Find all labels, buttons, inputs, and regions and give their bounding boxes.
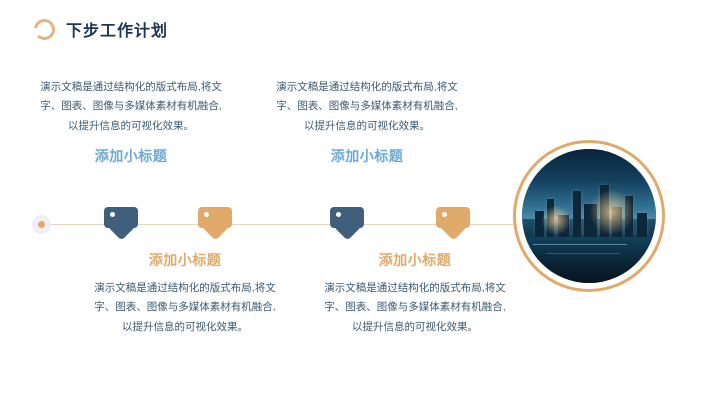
page-title: 下步工作计划 [34, 17, 168, 41]
timeline-pin-4[interactable] [436, 207, 476, 241]
building [573, 191, 581, 237]
city-skyline-night-photo [522, 149, 656, 283]
timeline-start-dot [32, 215, 51, 234]
page-title-text: 下步工作计划 [66, 17, 168, 41]
light-streak [546, 253, 620, 254]
light-streak [533, 244, 627, 245]
block-body-text: 演示文稿是通过结构化的版式布局,将文字、图表、图像与多媒体素材有机融合,以提升信… [272, 78, 462, 136]
timeline-pin-2[interactable] [198, 207, 238, 241]
dot-inner [38, 221, 45, 228]
timeline-pin-3[interactable] [330, 207, 370, 241]
block-subtitle: 添加小标题 [90, 250, 280, 270]
block-body-text: 演示文稿是通过结构化的版式布局,将文字、图表、图像与多媒体素材有机融合,以提升信… [36, 78, 226, 136]
content-block-top-right: 演示文稿是通过结构化的版式布局,将文字、图表、图像与多媒体素材有机融合,以提升信… [272, 78, 462, 166]
block-body-text: 演示文稿是通过结构化的版式布局,将文字、图表、图像与多媒体素材有机融合,以提升信… [90, 279, 280, 337]
light-glow [589, 189, 635, 235]
block-body-text: 演示文稿是通过结构化的版式布局,将文字、图表、图像与多媒体素材有机融合,以提升信… [320, 279, 510, 337]
block-subtitle: 添加小标题 [320, 250, 510, 270]
photo-frame [513, 140, 665, 292]
content-block-bottom-right: 添加小标题 演示文稿是通过结构化的版式布局,将文字、图表、图像与多媒体素材有机融… [320, 250, 510, 337]
content-block-bottom-left: 添加小标题 演示文稿是通过结构化的版式布局,将文字、图表、图像与多媒体素材有机融… [90, 250, 280, 337]
light-glow [541, 205, 571, 235]
block-subtitle: 添加小标题 [272, 146, 462, 166]
block-subtitle: 添加小标题 [36, 146, 226, 166]
building [637, 213, 647, 237]
timeline-pin-1[interactable] [104, 207, 144, 241]
ring-icon [34, 19, 55, 40]
content-block-top-left: 演示文稿是通过结构化的版式布局,将文字、图表、图像与多媒体素材有机融合,以提升信… [36, 78, 226, 166]
